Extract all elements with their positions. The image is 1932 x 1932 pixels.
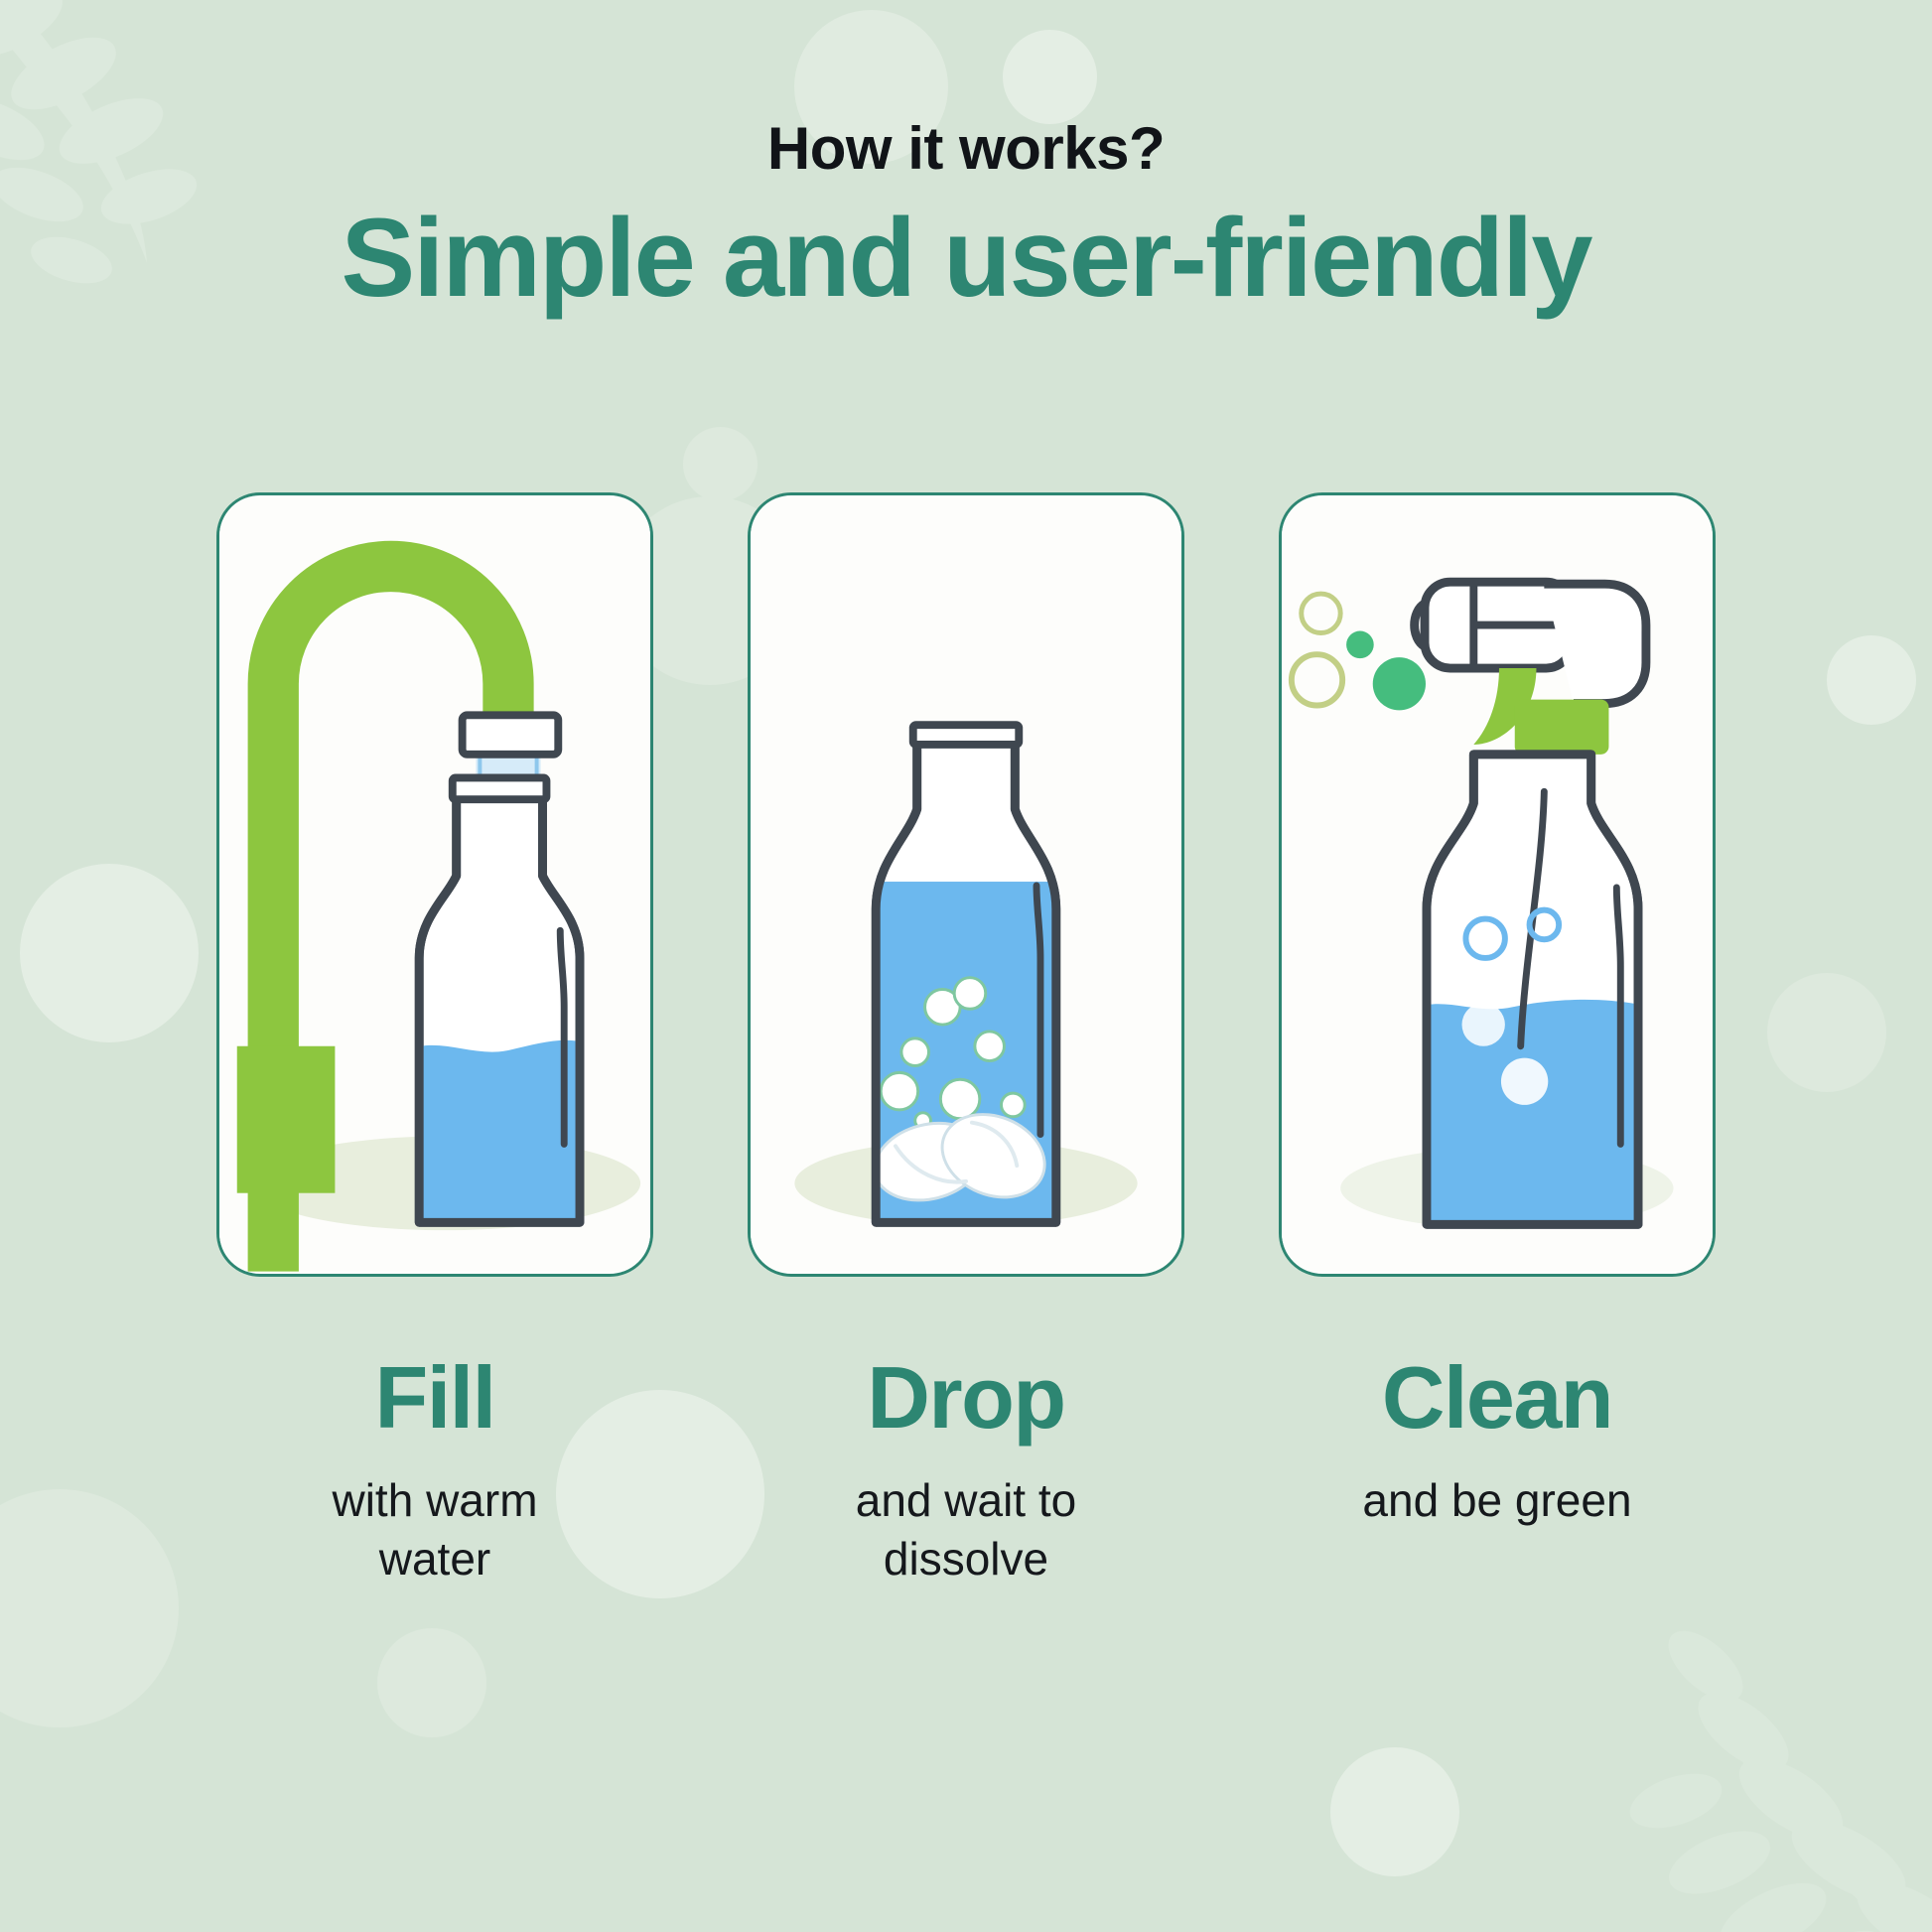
bg-bubble	[683, 427, 758, 501]
faucet-filling-bottle-icon	[219, 495, 650, 1274]
bg-bubble	[377, 1628, 486, 1737]
step-clean: Clean and be green	[1279, 492, 1716, 1588]
step-name-clean: Clean	[1382, 1354, 1612, 1442]
step-card-clean[interactable]	[1279, 492, 1716, 1277]
page-header: How it works? Simple and user-friendly	[0, 119, 1932, 314]
step-description-clean: and be green	[1362, 1471, 1631, 1530]
step-card-drop[interactable]	[748, 492, 1184, 1277]
step-name-fill: Fill	[374, 1354, 494, 1442]
step-fill: Fill with warm water	[216, 492, 653, 1588]
step-card-fill[interactable]	[216, 492, 653, 1277]
spray-bottle-icon	[1282, 495, 1713, 1274]
bg-bubble	[1330, 1747, 1459, 1876]
bg-bubble	[1003, 30, 1097, 124]
step-drop: Drop and wait to dissolve	[748, 492, 1184, 1588]
step-name-drop: Drop	[867, 1354, 1064, 1442]
bottle-with-dissolving-tablets-icon	[751, 495, 1181, 1274]
steps-row: Fill with warm water	[0, 492, 1932, 1588]
page-kicker: How it works?	[0, 119, 1932, 179]
page-title: Simple and user-friendly	[0, 203, 1932, 314]
step-description-fill: with warm water	[271, 1471, 599, 1588]
step-description-drop: and wait to dissolve	[802, 1471, 1130, 1588]
